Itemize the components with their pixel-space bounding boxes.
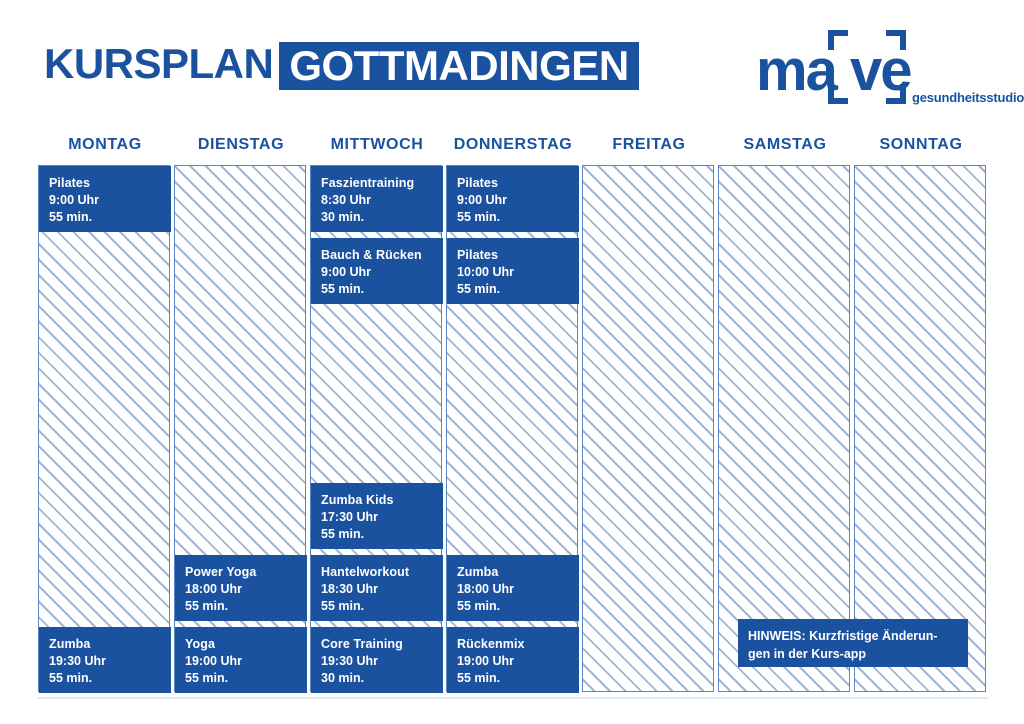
day-header-samstag: SAMSTAG bbox=[718, 136, 852, 160]
course-time: 17:30 Uhr bbox=[321, 509, 433, 526]
day-column-samstag: SAMSTAG bbox=[718, 136, 852, 696]
page-title: KURSPLAN GOTTMADINGEN bbox=[44, 42, 639, 90]
course-duration: 55 min. bbox=[185, 670, 297, 687]
day-column-mittwoch: MITTWOCHFaszientraining8:30 Uhr30 min.Ba… bbox=[310, 136, 444, 696]
course-time: 19:30 Uhr bbox=[321, 653, 433, 670]
day-column-freitag: FREITAG bbox=[582, 136, 716, 696]
day-slots-montag: Pilates9:00 Uhr55 min.Zumba19:30 Uhr55 m… bbox=[38, 165, 170, 692]
course-time: 19:30 Uhr bbox=[49, 653, 161, 670]
page-title-kursplan: KURSPLAN bbox=[44, 42, 279, 90]
notice-line-2: gen in der Kurs-app bbox=[748, 645, 958, 663]
notice-line-1: HINWEIS: Kurzfristige Änderun- bbox=[748, 627, 958, 645]
course-time: 19:00 Uhr bbox=[185, 653, 297, 670]
course-time: 18:30 Uhr bbox=[321, 581, 433, 598]
day-column-dienstag: DIENSTAGPower Yoga18:00 Uhr55 min.Yoga19… bbox=[174, 136, 308, 696]
day-header-mittwoch: MITTWOCH bbox=[310, 136, 444, 160]
course-block[interactable]: Rückenmix19:00 Uhr55 min. bbox=[447, 627, 579, 693]
course-duration: 55 min. bbox=[49, 209, 161, 226]
course-duration: 55 min. bbox=[321, 598, 433, 615]
course-duration: 55 min. bbox=[457, 670, 569, 687]
course-duration: 55 min. bbox=[457, 209, 569, 226]
course-duration: 30 min. bbox=[321, 670, 433, 687]
course-name: Pilates bbox=[457, 247, 569, 264]
course-block[interactable]: Yoga19:00 Uhr55 min. bbox=[175, 627, 307, 693]
course-block[interactable]: Zumba18:00 Uhr55 min. bbox=[447, 555, 579, 621]
notice-box: HINWEIS: Kurzfristige Änderun- gen in de… bbox=[738, 619, 968, 667]
course-name: Pilates bbox=[457, 175, 569, 192]
page-title-city: GOTTMADINGEN bbox=[289, 46, 628, 86]
course-name: Bauch & Rücken bbox=[321, 247, 433, 264]
course-time: 10:00 Uhr bbox=[457, 264, 569, 281]
course-name: Hantelworkout bbox=[321, 564, 433, 581]
course-block[interactable]: Zumba Kids17:30 Uhr55 min. bbox=[311, 483, 443, 549]
move-logo: ma ve gesundheitsstudio bbox=[744, 28, 994, 110]
course-name: Rückenmix bbox=[457, 636, 569, 653]
page-title-city-box: GOTTMADINGEN bbox=[279, 42, 638, 90]
day-column-sonntag: SONNTAG bbox=[854, 136, 988, 696]
day-slots-freitag bbox=[582, 165, 714, 692]
course-time: 18:00 Uhr bbox=[185, 581, 297, 598]
course-duration: 55 min. bbox=[457, 281, 569, 298]
day-column-donnerstag: DONNERSTAGPilates9:00 Uhr55 min.Pilates1… bbox=[446, 136, 580, 696]
bracket-corner-bottom-right-icon bbox=[886, 84, 906, 104]
course-duration: 55 min. bbox=[321, 526, 433, 543]
course-name: Zumba bbox=[49, 636, 161, 653]
course-block[interactable]: Pilates9:00 Uhr55 min. bbox=[447, 166, 579, 232]
day-slots-dienstag: Power Yoga18:00 Uhr55 min.Yoga19:00 Uhr5… bbox=[174, 165, 306, 692]
course-name: Core Training bbox=[321, 636, 433, 653]
course-block[interactable]: Power Yoga18:00 Uhr55 min. bbox=[175, 555, 307, 621]
course-block[interactable]: Hantelworkout18:30 Uhr55 min. bbox=[311, 555, 443, 621]
course-time: 8:30 Uhr bbox=[321, 192, 433, 209]
logo-subtitle: gesundheitsstudio bbox=[912, 90, 1024, 105]
bottom-divider bbox=[38, 697, 988, 699]
course-time: 9:00 Uhr bbox=[49, 192, 161, 209]
course-name: Power Yoga bbox=[185, 564, 297, 581]
course-block[interactable]: Faszientraining8:30 Uhr30 min. bbox=[311, 166, 443, 232]
bracket-corner-top-left-icon bbox=[828, 30, 848, 50]
course-time: 9:00 Uhr bbox=[457, 192, 569, 209]
course-block[interactable]: Bauch & Rücken9:00 Uhr55 min. bbox=[311, 238, 443, 304]
course-block[interactable]: Core Training19:30 Uhr30 min. bbox=[311, 627, 443, 693]
day-column-montag: MONTAGPilates9:00 Uhr55 min.Zumba19:30 U… bbox=[38, 136, 172, 696]
course-block[interactable]: Pilates9:00 Uhr55 min. bbox=[39, 166, 171, 232]
course-duration: 55 min. bbox=[321, 281, 433, 298]
schedule-grid: MONTAGPilates9:00 Uhr55 min.Zumba19:30 U… bbox=[38, 136, 988, 696]
day-slots-samstag bbox=[718, 165, 850, 692]
course-time: 19:00 Uhr bbox=[457, 653, 569, 670]
course-time: 18:00 Uhr bbox=[457, 581, 569, 598]
course-block[interactable]: Zumba19:30 Uhr55 min. bbox=[39, 627, 171, 693]
day-header-dienstag: DIENSTAG bbox=[174, 136, 308, 160]
course-name: Faszientraining bbox=[321, 175, 433, 192]
page-header: KURSPLAN GOTTMADINGEN ma ve gesundheitss… bbox=[0, 0, 1024, 125]
day-slots-mittwoch: Faszientraining8:30 Uhr30 min.Bauch & Rü… bbox=[310, 165, 442, 692]
bracket-corner-bottom-left-icon bbox=[828, 84, 848, 104]
course-duration: 55 min. bbox=[457, 598, 569, 615]
bracket-corner-top-right-icon bbox=[886, 30, 906, 50]
course-duration: 55 min. bbox=[49, 670, 161, 687]
day-header-montag: MONTAG bbox=[38, 136, 172, 160]
course-name: Zumba Kids bbox=[321, 492, 433, 509]
course-name: Pilates bbox=[49, 175, 161, 192]
course-duration: 30 min. bbox=[321, 209, 433, 226]
course-name: Yoga bbox=[185, 636, 297, 653]
course-time: 9:00 Uhr bbox=[321, 264, 433, 281]
day-slots-donnerstag: Pilates9:00 Uhr55 min.Pilates10:00 Uhr55… bbox=[446, 165, 578, 692]
day-header-freitag: FREITAG bbox=[582, 136, 716, 160]
course-duration: 55 min. bbox=[185, 598, 297, 615]
course-name: Zumba bbox=[457, 564, 569, 581]
day-header-donnerstag: DONNERSTAG bbox=[446, 136, 580, 160]
course-block[interactable]: Pilates10:00 Uhr55 min. bbox=[447, 238, 579, 304]
day-header-sonntag: SONNTAG bbox=[854, 136, 988, 160]
day-slots-sonntag bbox=[854, 165, 986, 692]
